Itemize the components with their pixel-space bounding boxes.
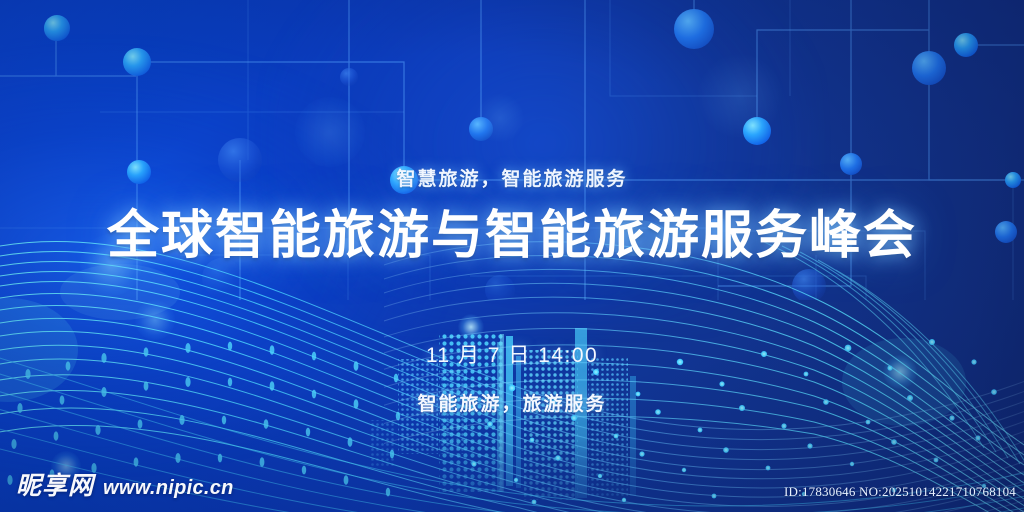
asset-id-line: ID:17830646 NO:20251014221710768104 xyxy=(784,484,1016,500)
eyebrow-subtitle: 智慧旅游，智能旅游服务 xyxy=(396,164,627,191)
watermark: 昵享网 www.nipic.cn xyxy=(16,466,234,502)
banner-poster: 智慧旅游，智能旅游服务 全球智能旅游与智能旅游服务峰会 11 月 7 日 14:… xyxy=(0,0,1024,512)
event-tagline: 智能旅游，旅游服务 xyxy=(417,389,606,416)
nipic-logo-text: 昵享网 xyxy=(16,466,94,502)
page-title: 全球智能旅游与智能旅游服务峰会 xyxy=(107,207,917,265)
poster-content: 智慧旅游，智能旅游服务 全球智能旅游与智能旅游服务峰会 11 月 7 日 14:… xyxy=(0,0,1024,512)
nipic-url-text: www.nipic.cn xyxy=(103,477,234,500)
event-datetime: 11 月 7 日 14:00 xyxy=(426,339,598,369)
